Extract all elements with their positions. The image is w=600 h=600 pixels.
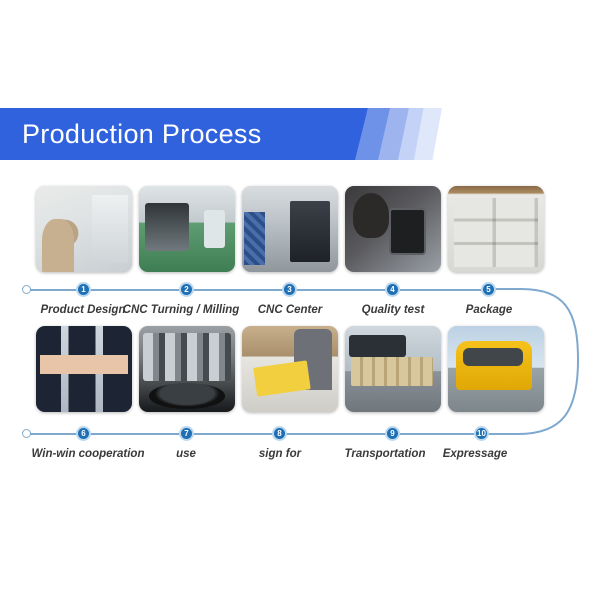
loaded-truck-photo [345,326,441,412]
step-image-quality-test [345,186,441,272]
step-node-3[interactable]: 3 [282,282,297,297]
step-image-expressage [448,326,544,412]
step-label-package: Package [429,304,549,316]
track-start-dot-row-1 [22,285,31,294]
step-label-expressage: Expressage [415,448,535,460]
page-title: Production Process [22,108,262,160]
step-image-sign-for [242,326,338,412]
process-row-2: 6 7 8 9 10 Win-win cooperation use sign … [0,326,600,466]
package-photo [448,186,544,272]
step-label-sign-for: sign for [220,448,340,460]
step-image-product-design [36,186,132,272]
step-node-9[interactable]: 9 [385,426,400,441]
cnc-turning-photo [139,186,235,272]
process-row-1-track: 1 2 3 4 5 [0,282,600,298]
step-node-4[interactable]: 4 [385,282,400,297]
design-photo [36,186,132,272]
track-start-dot-row-2 [22,429,31,438]
step-node-6[interactable]: 6 [76,426,91,441]
process-row-1: 1 2 3 4 5 Product Design CNC Turning / M… [0,186,600,316]
step-node-10[interactable]: 10 [474,426,489,441]
step-node-5[interactable]: 5 [481,282,496,297]
step-node-7[interactable]: 7 [179,426,194,441]
step-image-cnc-turning [139,186,235,272]
process-row-2-track: 6 7 8 9 10 [0,426,600,442]
step-node-2[interactable]: 2 [179,282,194,297]
machined-parts-photo [139,326,235,412]
process-row-1-images [0,186,600,272]
connector-line-row-1 [29,289,492,291]
handshake-thumbsup-photo [36,326,132,412]
signing-package-photo [242,326,338,412]
quality-test-photo [345,186,441,272]
step-image-use [139,326,235,412]
connector-line-row-2 [29,433,495,435]
step-label-cnc-center: CNC Center [230,304,350,316]
yellow-delivery-van-photo [448,326,544,412]
step-label-cnc-turning-milling: CNC Turning / Milling [121,304,241,316]
page-header-banner: Production Process [0,108,600,160]
cnc-center-photo [242,186,338,272]
process-row-2-images [0,326,600,412]
step-image-cnc-center [242,186,338,272]
step-image-package [448,186,544,272]
step-node-1[interactable]: 1 [76,282,91,297]
step-image-transportation [345,326,441,412]
step-image-win-win-cooperation [36,326,132,412]
step-node-8[interactable]: 8 [272,426,287,441]
